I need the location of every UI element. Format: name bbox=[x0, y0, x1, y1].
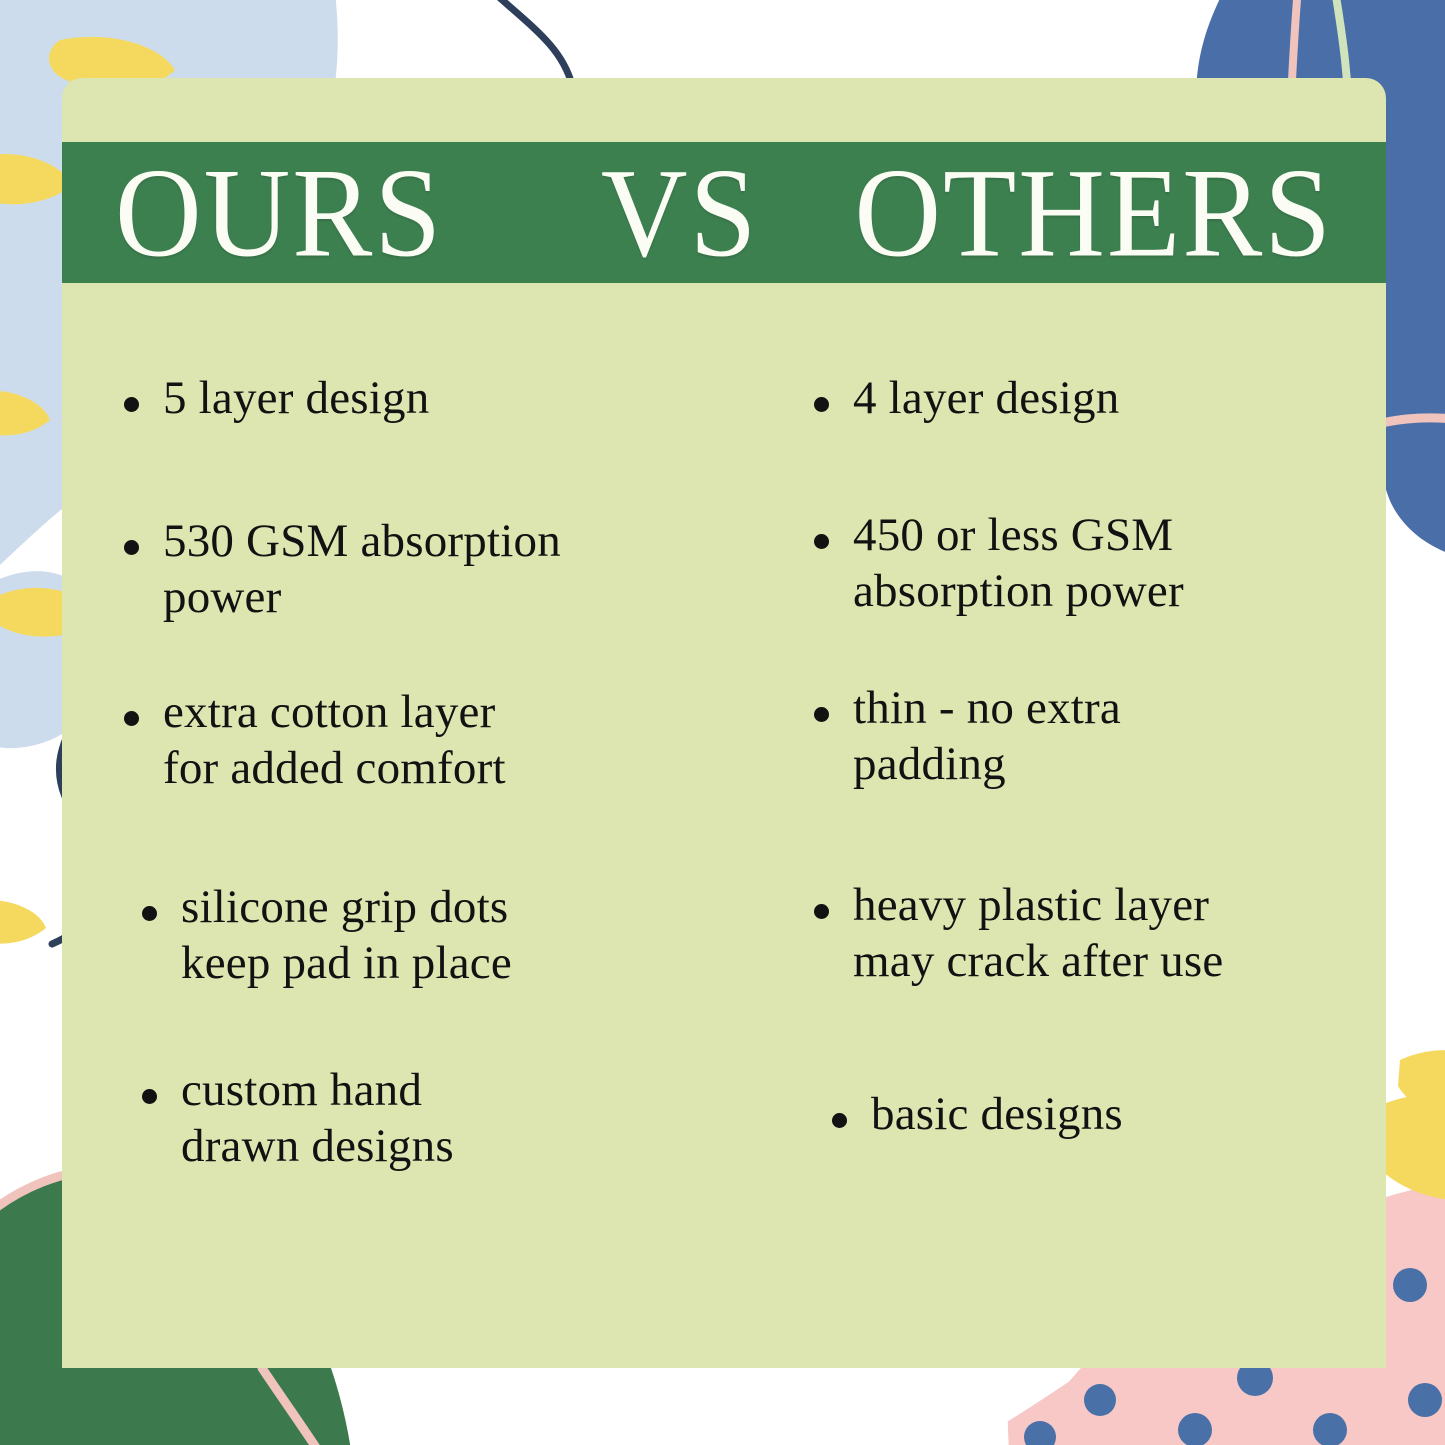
list-item-label: basic designs bbox=[871, 1087, 1123, 1142]
list-item-label: silicone grip dots keep pad in place bbox=[181, 880, 512, 991]
list-item: 5 layer design bbox=[124, 371, 754, 426]
list-item: heavy plastic layer may crack after use bbox=[814, 878, 1376, 989]
list-item: 450 or less GSM absorption power bbox=[814, 508, 1376, 619]
infographic-canvas: OURS VS OTHERS 5 layer design 530 GSM ab… bbox=[0, 0, 1445, 1445]
bullet-dot-icon bbox=[832, 1113, 847, 1128]
list-item-label: custom hand drawn designs bbox=[181, 1063, 454, 1174]
bullet-dot-icon bbox=[142, 1089, 157, 1104]
bullet-dot-icon bbox=[124, 711, 139, 726]
list-item: silicone grip dots keep pad in place bbox=[142, 880, 754, 991]
list-item-label: 4 layer design bbox=[853, 371, 1119, 426]
list-item: 4 layer design bbox=[814, 371, 1376, 426]
comparison-columns: 5 layer design 530 GSM absorption power … bbox=[62, 283, 1386, 1368]
header-bar: OURS VS OTHERS bbox=[62, 142, 1386, 283]
page-title: OURS VS OTHERS bbox=[115, 149, 1333, 276]
list-item-label: extra cotton layer for added comfort bbox=[163, 685, 506, 796]
list-item-label: 450 or less GSM absorption power bbox=[853, 508, 1184, 619]
list-item-label: 5 layer design bbox=[163, 371, 429, 426]
column-others: 4 layer design 450 or less GSM absorptio… bbox=[774, 283, 1386, 1368]
list-item: basic designs bbox=[832, 1087, 1376, 1142]
list-item: thin - no extra padding bbox=[814, 681, 1376, 792]
list-item: extra cotton layer for added comfort bbox=[124, 685, 754, 796]
bullet-dot-icon bbox=[814, 534, 829, 549]
list-item: 530 GSM absorption power bbox=[124, 514, 754, 625]
bullet-dot-icon bbox=[814, 904, 829, 919]
comparison-card: OURS VS OTHERS 5 layer design 530 GSM ab… bbox=[62, 78, 1386, 1368]
bullet-dot-icon bbox=[124, 397, 139, 412]
list-item: custom hand drawn designs bbox=[142, 1063, 754, 1174]
list-item-label: thin - no extra padding bbox=[853, 681, 1121, 792]
list-item-label: 530 GSM absorption power bbox=[163, 514, 561, 625]
bullet-dot-icon bbox=[814, 707, 829, 722]
list-item-label: heavy plastic layer may crack after use bbox=[853, 878, 1223, 989]
bullet-dot-icon bbox=[124, 540, 139, 555]
bullet-dot-icon bbox=[142, 906, 157, 921]
bullet-dot-icon bbox=[814, 397, 829, 412]
column-ours: 5 layer design 530 GSM absorption power … bbox=[62, 283, 774, 1368]
